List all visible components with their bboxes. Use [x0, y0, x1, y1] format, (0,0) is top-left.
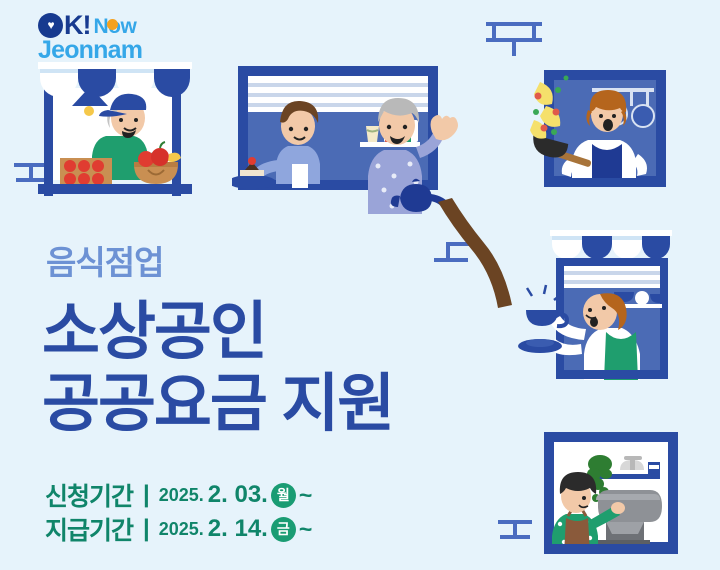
roaster-machine-scene	[532, 424, 692, 566]
divider-1: |	[143, 481, 150, 509]
cafe-window-scene	[232, 60, 472, 220]
headline-line-1: 소상공인	[42, 296, 393, 368]
application-period-row: 신청기간 | 2025. 2. 03. 월 ~	[45, 478, 312, 512]
chef-cooking-scene	[530, 62, 680, 194]
logo-now-label: Now	[94, 16, 137, 38]
fruit-stall-vendor	[28, 58, 198, 198]
orange-dot-icon	[107, 19, 118, 30]
payment-year: 2025.	[159, 519, 204, 540]
date-info-block: 신청기간 | 2025. 2. 03. 월 ~ 지급기간 | 2025. 2. …	[45, 478, 312, 546]
logo-top-row: K! Now	[38, 12, 188, 38]
payment-month-day: 2. 14.	[208, 515, 268, 543]
logo-ok-label: K!	[64, 12, 91, 38]
divider-2: |	[143, 515, 150, 543]
headline-line-2: 공공요금 지원	[42, 368, 393, 440]
motif-top-right	[484, 18, 546, 60]
heart-icon	[38, 13, 63, 38]
ok-now-jeonnam-logo: K! Now Jeonnam	[38, 12, 188, 60]
payment-day-badge: 금	[271, 517, 296, 542]
page-subtitle: 음식점업	[46, 236, 163, 284]
application-period-label: 신청기간	[45, 477, 133, 513]
application-month-day: 2. 03.	[208, 481, 268, 509]
application-day-badge: 월	[271, 483, 296, 508]
application-tilde: ~	[299, 482, 312, 509]
payment-period-row: 지급기간 | 2025. 2. 14. 금 ~	[45, 512, 312, 546]
barista-pouring-scene	[516, 228, 696, 388]
payment-period-label: 지급기간	[45, 511, 133, 547]
page-title: 소상공인 공공요금 지원	[42, 296, 393, 440]
logo-ok-text: K!	[38, 12, 91, 38]
payment-tilde: ~	[299, 516, 312, 543]
application-year: 2025.	[159, 485, 204, 506]
poster-canvas: K! Now Jeonnam	[0, 0, 720, 570]
